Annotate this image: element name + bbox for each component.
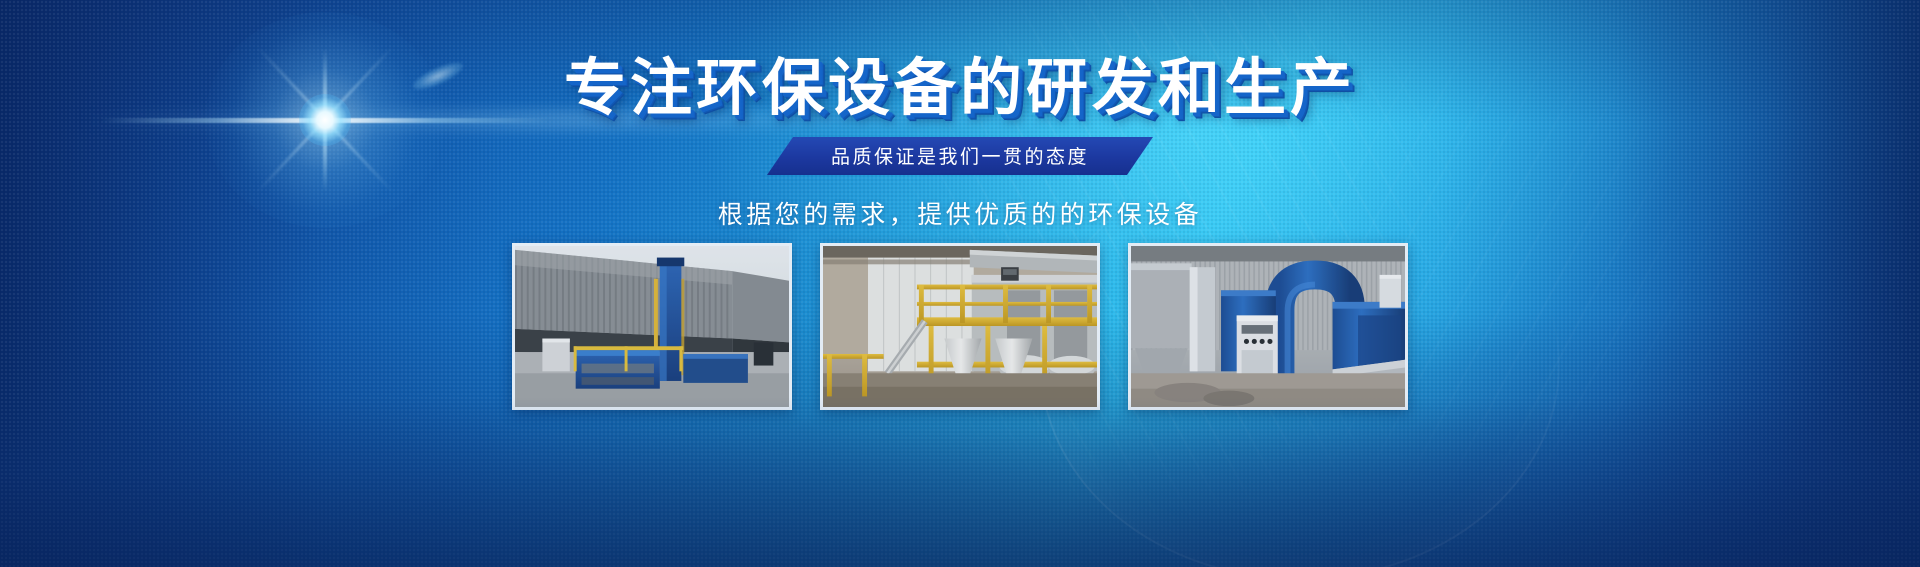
promo-banner: 专注环保设备的研发和生产 品质保证是我们一贯的态度 根据您的需求，提供优质的的环… — [0, 0, 1920, 567]
dust-collector-photo-icon — [1131, 246, 1405, 407]
photo-gallery — [0, 243, 1920, 410]
banner-subline: 根据您的需求，提供优质的的环保设备 — [718, 195, 1203, 231]
banner-headline: 专注环保设备的研发和生产 — [564, 56, 1356, 123]
quality-badge: 品质保证是我们一贯的态度 — [767, 137, 1153, 175]
quality-badge-label: 品质保证是我们一贯的态度 — [831, 142, 1089, 169]
factory-exterior-photo-icon — [515, 246, 789, 407]
quality-badge-wrap: 品质保证是我们一贯的态度 — [767, 137, 1153, 175]
gallery-photo-1[interactable] — [512, 243, 792, 410]
indoor-plant-photo-icon — [823, 246, 1097, 407]
gallery-photo-2[interactable] — [820, 243, 1100, 410]
gallery-photo-3[interactable] — [1128, 243, 1408, 410]
